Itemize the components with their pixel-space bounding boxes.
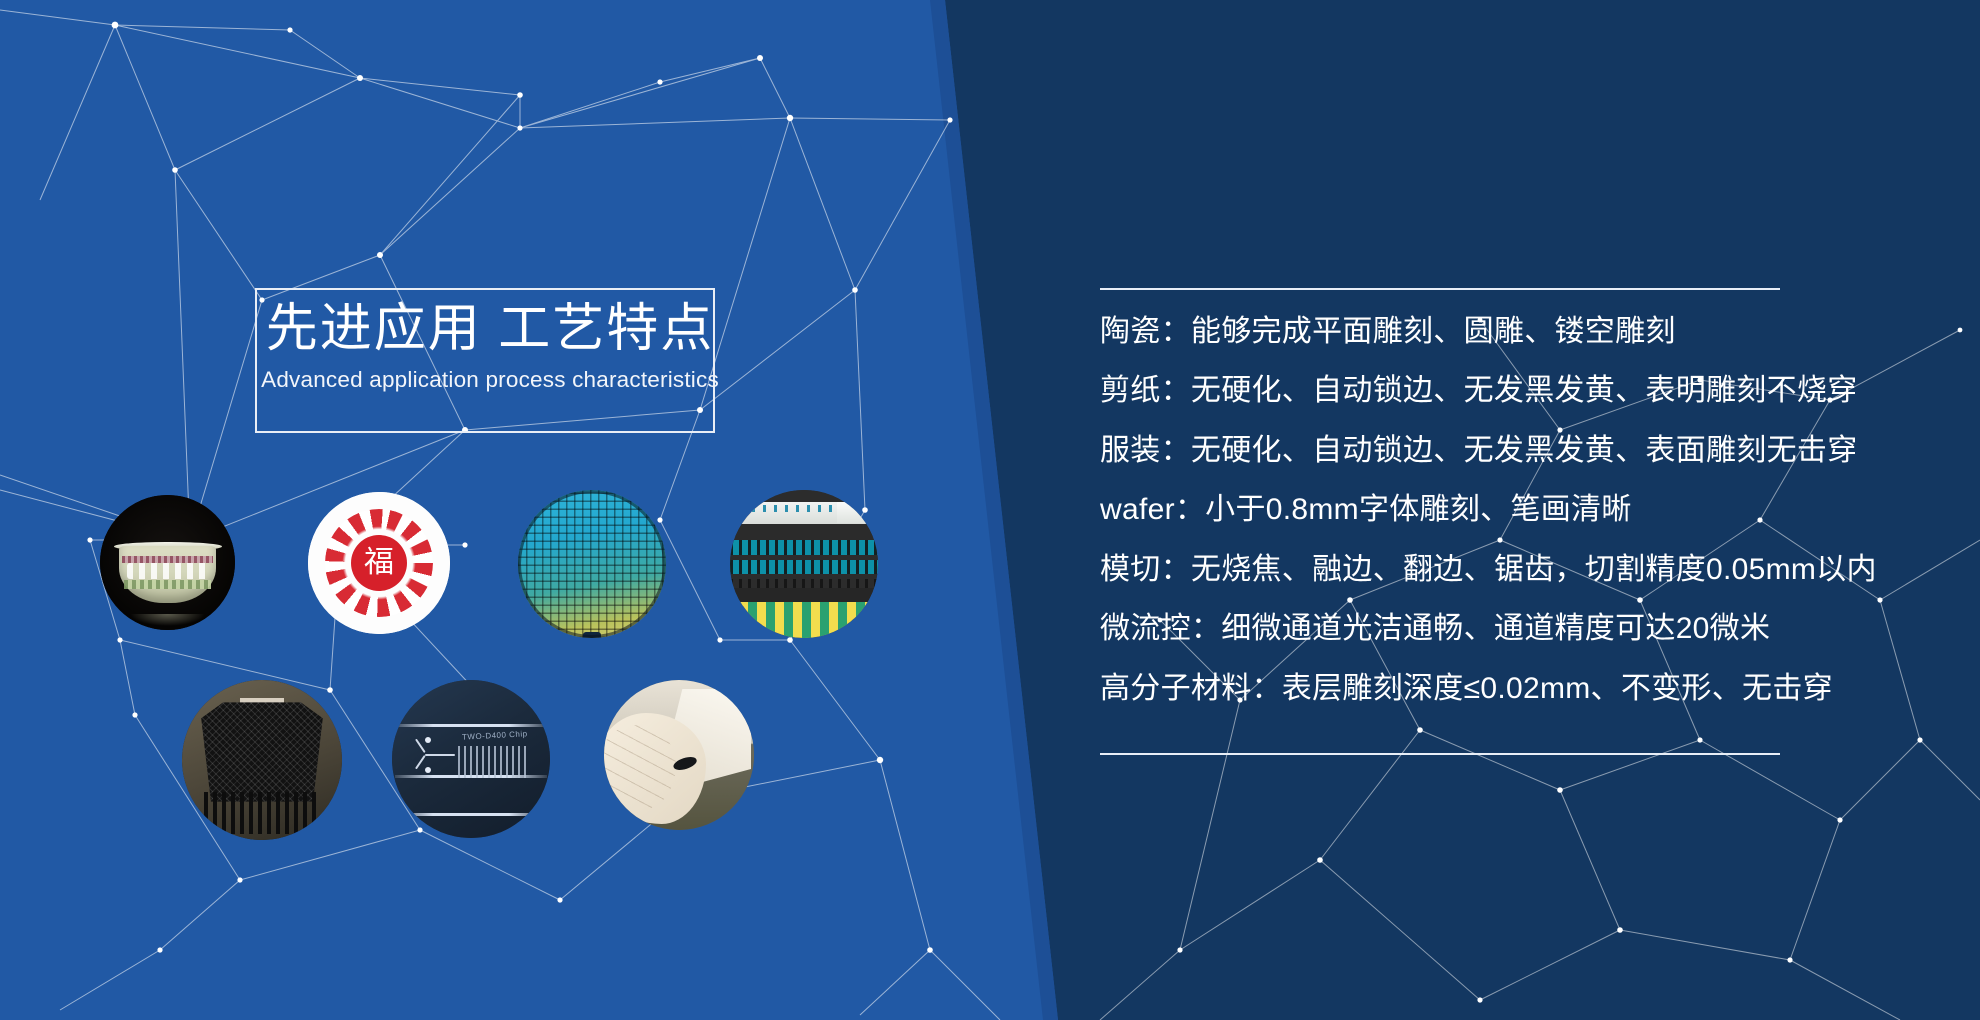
gallery-image-silicon-wafer[interactable]	[518, 490, 666, 638]
spec-item-ceramic: 陶瓷：能够完成平面雕刻、圆雕、镂空雕刻	[1100, 302, 1930, 362]
spec-list: 陶瓷：能够完成平面雕刻、圆雕、镂空雕刻 剪纸：无硬化、自动锁边、无发黑发黄、表明…	[1100, 302, 1930, 719]
strip-green-components	[730, 602, 878, 638]
spec-item-apparel: 服装：无硬化、自动锁边、无发黑发黄、表面雕刻无击穿	[1100, 421, 1930, 481]
garment-fringe	[204, 792, 319, 834]
gallery-image-hand-holding-film[interactable]	[604, 680, 754, 830]
strip-dark-band-upper	[730, 524, 878, 540]
gallery-image-red-papercut[interactable]: 福	[308, 492, 450, 634]
chip-serpentine-channel	[458, 746, 528, 778]
slide-canvas: 先进应用 工艺特点 Advanced application process c…	[0, 0, 1980, 1020]
strip-dark-band-lower	[730, 588, 878, 603]
strip-teal-band-3-dots	[730, 579, 878, 588]
spec-item-microfluidics: 微流控：细微通道光洁通畅、通道精度可达20微米	[1100, 600, 1930, 660]
spec-item-polymer: 高分子材料：表层雕刻深度≤0.02mm、不变形、无击穿	[1100, 660, 1930, 720]
title-frame	[255, 288, 715, 433]
garment-perforation-pattern	[201, 702, 323, 801]
spec-item-wafer: wafer：小于0.8mm字体雕刻、笔画清晰	[1100, 481, 1930, 541]
hand-fingers	[604, 725, 676, 809]
spec-list-bottom-divider	[1100, 753, 1780, 755]
strip-corner-tab	[837, 502, 870, 523]
gallery-image-ceramic-bowl[interactable]	[100, 495, 235, 630]
spec-item-die-cutting: 模切：无烧焦、融边、翻边、锯齿，切割精度0.05mm以内	[1100, 540, 1930, 600]
chip-channel-bottom	[395, 813, 547, 816]
wafer-edge-shadow	[518, 490, 666, 638]
strip-teal-band-1-dots	[730, 540, 878, 555]
bowl-upper-pattern-band	[122, 556, 214, 563]
bowl-lower-pattern-band	[124, 580, 210, 589]
bowl-reflection	[130, 614, 206, 626]
gallery-image-microfluidic-chip[interactable]: TWO-D400 Chip	[392, 680, 550, 838]
fu-character: 福	[364, 548, 394, 578]
bowl-engraved-pattern	[127, 563, 208, 579]
chip-channel-top	[395, 724, 547, 727]
gallery-image-black-garment[interactable]	[182, 680, 342, 840]
spec-item-papercut: 剪纸：无硬化、自动锁边、无发黑发黄、表明雕刻不烧穿	[1100, 362, 1930, 422]
spec-list-top-divider	[1100, 288, 1780, 290]
gallery-image-microfluidic-strip[interactable]	[730, 490, 878, 638]
strip-teal-band-2-dots	[730, 560, 878, 575]
